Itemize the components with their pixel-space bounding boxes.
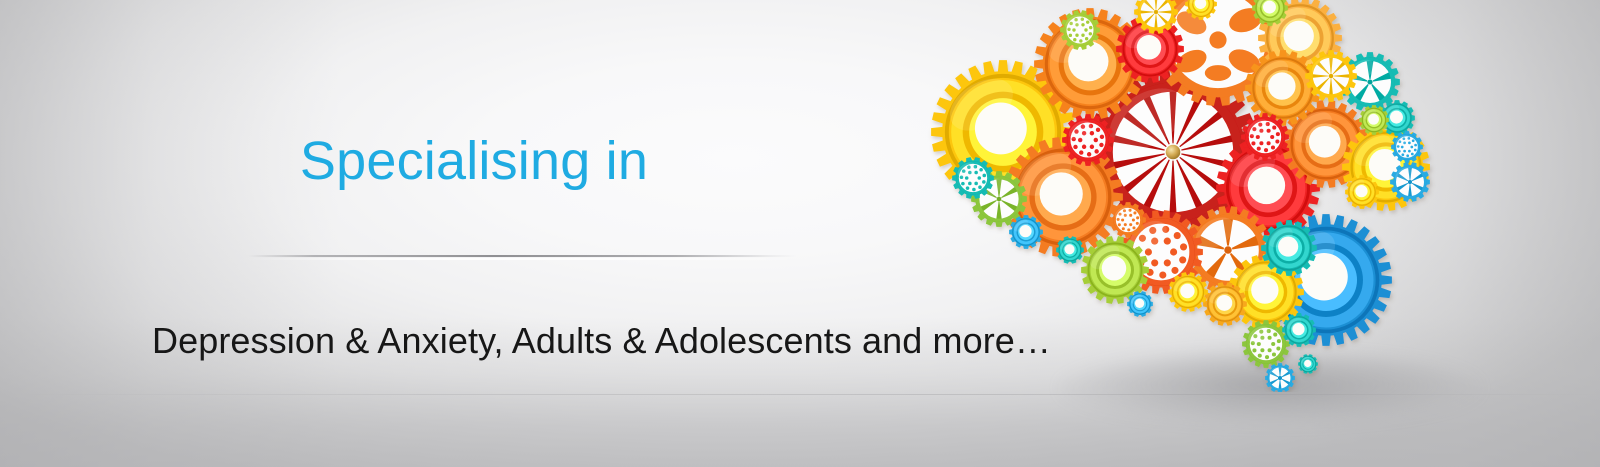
gear-bottom-blue-tiny-gear	[1127, 291, 1153, 317]
gear-bottom-teal-tiny-gear	[1056, 236, 1084, 264]
hero-banner: Specialising in Depression & Anxiety, Ad…	[0, 0, 1600, 467]
title-divider	[248, 255, 796, 257]
title-divider-highlight	[248, 258, 796, 260]
gear-yellow-right-spoked-gear	[1305, 50, 1357, 102]
gear-bottom-gold-gear	[1203, 282, 1247, 326]
page-title: Specialising in	[0, 132, 900, 190]
gear-lime-topleft-gear	[1060, 10, 1100, 50]
gear-blue-right-spoked-gear	[1390, 162, 1430, 202]
gear-red-right-dot-gear	[1241, 113, 1289, 161]
gear-teal-bottom-gear	[1261, 220, 1317, 276]
gear-red-mid-dot-gear	[1062, 114, 1114, 166]
gear-bottom-small-yellow-gear	[1168, 272, 1208, 312]
gear-cyan-left-gear	[952, 157, 994, 199]
gear-stem-green-gear	[1242, 320, 1290, 368]
gear-stem-blue-gear	[1265, 363, 1295, 392]
gear-stem-small-teal-gear	[1298, 354, 1318, 374]
banner-subtitle: Depression & Anxiety, Adults & Adolescen…	[152, 320, 1051, 362]
